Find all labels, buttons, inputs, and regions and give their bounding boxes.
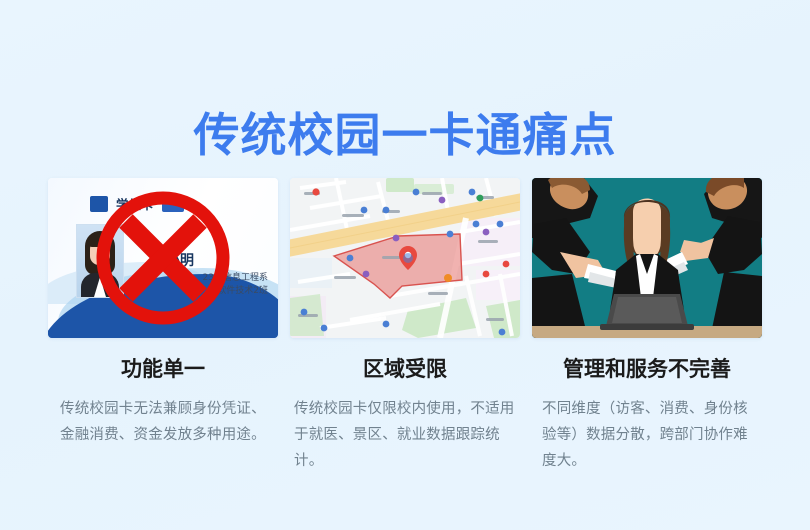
slide-canvas: 传统校园一卡通痛点 学生卡 (0, 0, 810, 530)
title-container: 传统校园一卡通痛点 (0, 78, 810, 192)
map-graphic (290, 178, 520, 338)
pain-point-columns: 学生卡 小明 23级信息工程系 软件技术2班 (48, 178, 762, 474)
page-title: 传统校园一卡通痛点 (194, 109, 617, 161)
pain-point-card-area-limited: 区域受限 传统校园卡仅限校内使用，不适用于就医、景区、就业数据跟踪统计。 (290, 178, 520, 474)
office-graphic (532, 178, 762, 338)
student-card-image: 学生卡 小明 23级信息工程系 软件技术2班 (48, 178, 278, 338)
column-heading: 管理和服务不完善 (532, 356, 762, 382)
office-illustration-image (532, 178, 762, 338)
prohibition-cross-icon (93, 188, 233, 328)
pain-point-card-management-service: 管理和服务不完善 不同维度（访客、消费、身份核验等）数据分散，跨部门协作难度大。 (532, 178, 762, 474)
column-heading: 功能单一 (48, 356, 278, 382)
pain-point-card-function-single: 学生卡 小明 23级信息工程系 软件技术2班 (48, 178, 278, 474)
column-body-text: 不同维度（访客、消费、身份核验等）数据分散，跨部门协作难度大。 (532, 396, 762, 474)
column-body-text: 传统校园卡无法兼顾身份凭证、金融消费、资金发放多种用途。 (48, 396, 278, 448)
column-heading: 区域受限 (290, 356, 520, 382)
map-image (290, 178, 520, 338)
column-body-text: 传统校园卡仅限校内使用，不适用于就医、景区、就业数据跟踪统计。 (290, 396, 520, 474)
